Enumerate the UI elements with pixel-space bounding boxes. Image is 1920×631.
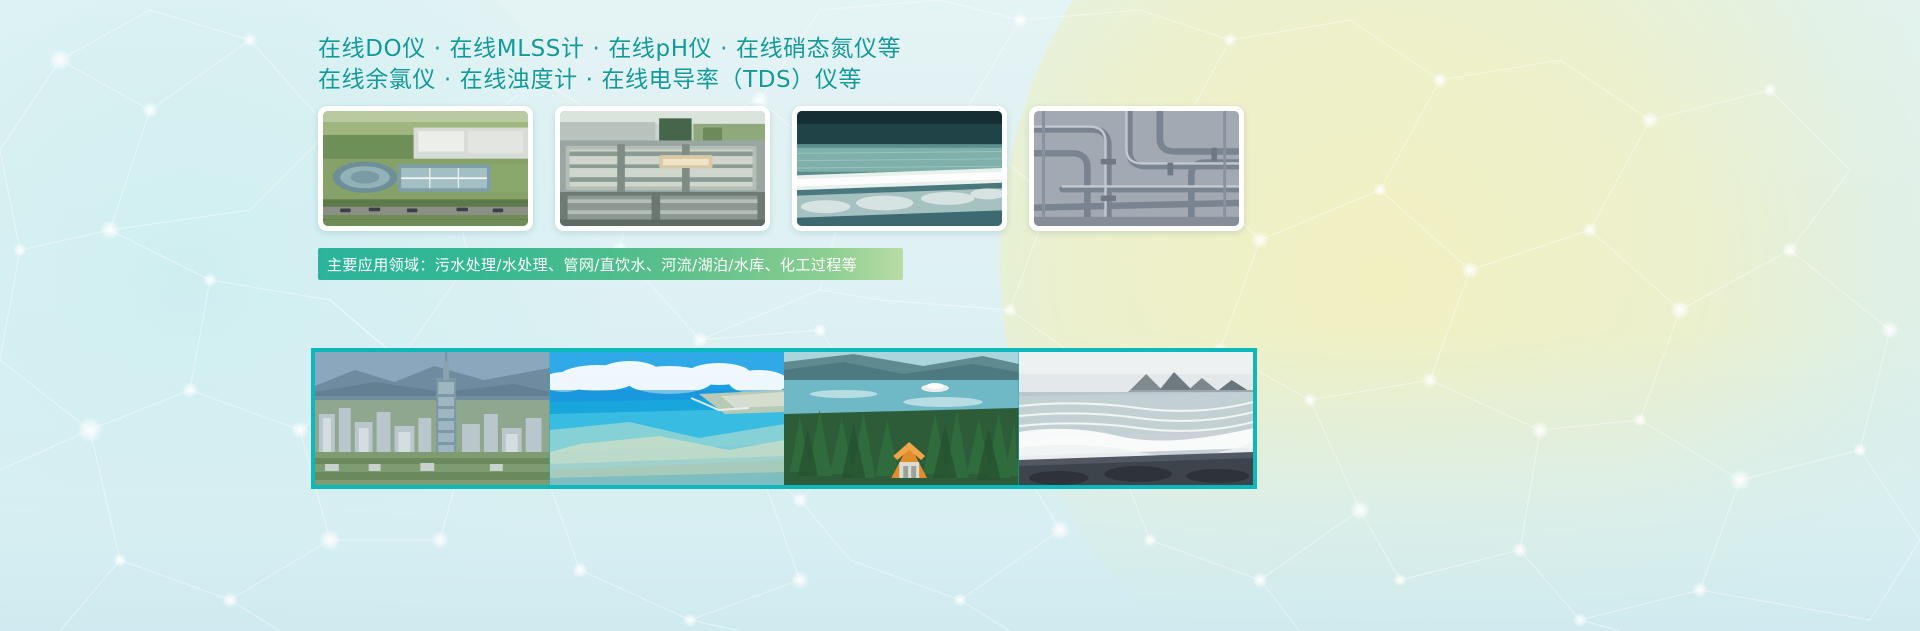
application-fields-text: 主要应用领域：污水处理/水处理、管网/直饮水、河流/湖泊/水库、化工过程等 [327,254,857,275]
banner-root: 在线DO仪 · 在线MLSS计 · 在线pH仪 · 在线硝态氮仪等 在线余氯仪 … [0,0,1920,631]
product-photo-card-4[interactable] [1029,106,1244,231]
scenery-photo-rocky-shoreline-bridge[interactable] [1019,352,1254,485]
application-fields-label-bar: 主要应用领域：污水处理/水处理、管网/直饮水、河流/湖泊/水库、化工过程等 [318,248,903,280]
scenery-photo-strip [311,348,1257,489]
scenery-photo-coastal-reef-bay[interactable] [550,352,785,485]
sedimentation-tanks-image [560,111,765,226]
scenery-photo-city-skyline-tower[interactable] [315,352,550,485]
product-photo-row [318,106,1244,231]
heading-line-1: 在线DO仪 · 在线MLSS计 · 在线pH仪 · 在线硝态氮仪等 [318,34,901,65]
product-photo-card-2[interactable] [555,106,770,231]
scenery-photo-lake-island-forest[interactable] [784,352,1019,485]
product-photo-card-1[interactable] [318,106,533,231]
industrial-piping-image [1034,111,1239,226]
product-photo-card-3[interactable] [792,106,1007,231]
molecular-network-decoration [0,0,1920,631]
wastewater-treatment-plant-aerial-image [323,111,528,226]
banner-heading: 在线DO仪 · 在线MLSS计 · 在线pH仪 · 在线硝态氮仪等 在线余氯仪 … [318,34,901,96]
heading-line-2: 在线余氯仪 · 在线浊度计 · 在线电导率（TDS）仪等 [318,65,901,96]
water-weir-overflow-image [797,111,1002,226]
